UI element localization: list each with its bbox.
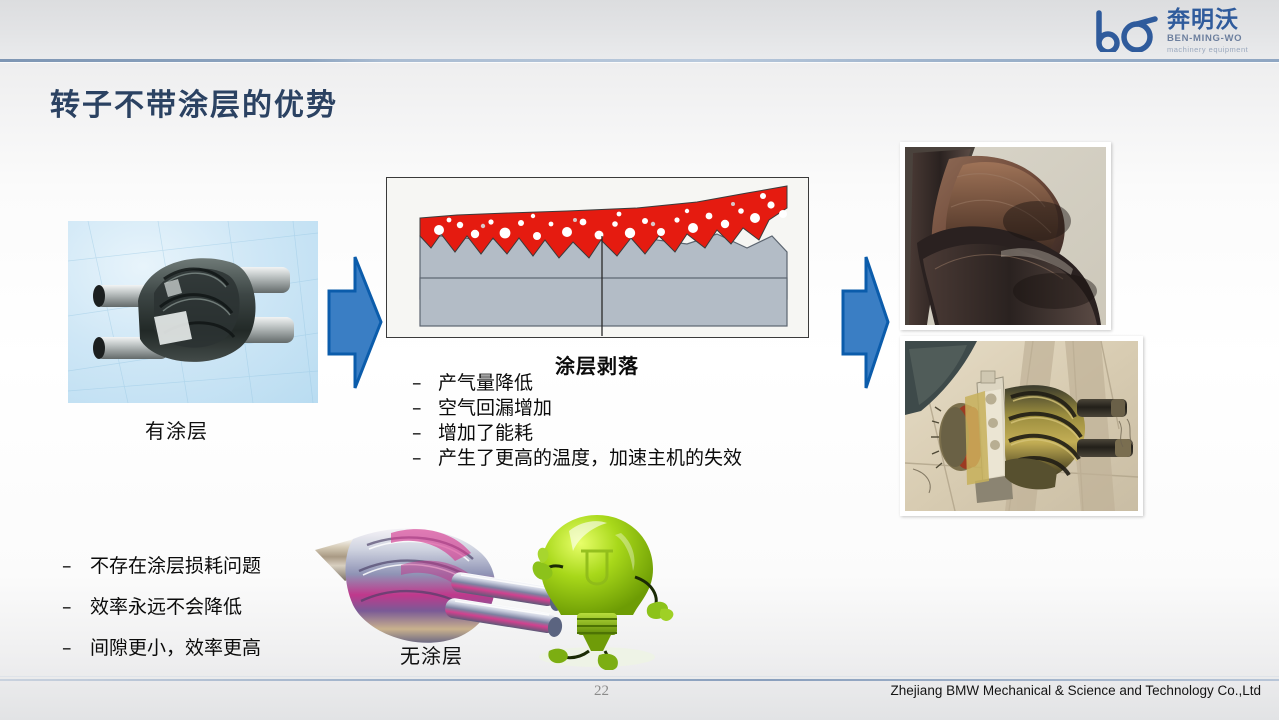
logo-name-en: BEN-MING-WO: [1167, 34, 1248, 44]
list-item: – 效率永远不会降低: [62, 587, 261, 628]
coated-rotor-photo: [68, 221, 318, 403]
logo-tagline: machinery equipment: [1167, 46, 1248, 54]
list-item-label: 产气量降低: [438, 371, 533, 396]
list-item: – 产气量降低: [412, 371, 742, 396]
header-band: [0, 0, 1279, 60]
list-item: – 产生了更高的温度，加速主机的失效: [412, 446, 742, 471]
page-number: 22: [594, 683, 609, 700]
flow-arrow-2-icon: [840, 255, 890, 390]
list-item-label: 增加了能耗: [438, 421, 533, 446]
rotor-assembly-image: [905, 341, 1138, 511]
list-item-label: 空气回漏增加: [438, 396, 552, 421]
uncoated-rotor-and-lightbulb-mascot: [305, 505, 675, 670]
list-item: – 不存在涂层损耗问题: [62, 546, 261, 587]
flow-arrow-1-icon: [325, 255, 383, 390]
worn-rotor-closeup-photo: [900, 142, 1111, 330]
bullet-marker: –: [62, 546, 90, 587]
rotor-helix-body: [138, 258, 256, 362]
damaged-rotor-assembly-photo: [900, 336, 1143, 516]
bulb-screw-base: [577, 613, 617, 651]
center-bullet-list: – 产气量降低 – 空气回漏增加 – 增加了能耗 – 产生了更高的温度，加速主机…: [412, 371, 742, 471]
lightbulb-mascot-icon: [533, 515, 674, 670]
logo-name-cn: 奔明沃: [1167, 9, 1248, 32]
photo-image-area: [905, 341, 1138, 511]
bottom-bullet-list: – 不存在涂层损耗问题 – 效率永远不会降低 – 间隙更小，效率更高: [62, 546, 261, 669]
header-divider-highlight: [0, 62, 1279, 63]
bullet-marker: –: [62, 628, 90, 669]
list-item: – 间隙更小，效率更高: [62, 628, 261, 669]
bo-monogram-icon: [1093, 10, 1161, 52]
page-title: 转子不带涂层的优势: [50, 80, 338, 124]
coating-delamination-diagram: [386, 177, 809, 338]
list-item-label: 效率永远不会降低: [90, 587, 242, 628]
company-logo: 奔明沃 BEN-MING-WO machinery equipment: [1093, 6, 1265, 56]
uncoated-rotor-illustration: [315, 529, 565, 643]
logo-text-block: 奔明沃 BEN-MING-WO machinery equipment: [1167, 9, 1248, 53]
slide-canvas: 奔明沃 BEN-MING-WO machinery equipment 转子不带…: [0, 0, 1279, 720]
bullet-marker: –: [62, 587, 90, 628]
footer-company-name: Zhejiang BMW Mechanical & Science and Te…: [891, 683, 1261, 698]
footer-divider-highlight: [0, 676, 1279, 677]
photo-image-area: [905, 147, 1106, 325]
bullet-marker: –: [412, 396, 438, 421]
list-item-label: 间隙更小，效率更高: [90, 628, 261, 669]
rotor-illustration: [68, 221, 318, 403]
list-item: – 增加了能耗: [412, 421, 742, 446]
list-item-label: 产生了更高的温度，加速主机的失效: [438, 446, 742, 471]
coating-cross-section-graphic: [387, 178, 808, 337]
footer-divider: [0, 679, 1279, 681]
coated-caption: 有涂层: [145, 415, 208, 444]
bullet-marker: –: [412, 421, 438, 446]
uncoated-caption: 无涂层: [400, 640, 463, 669]
bullet-marker: –: [412, 446, 438, 471]
bullet-marker: –: [412, 371, 438, 396]
list-item-label: 不存在涂层损耗问题: [90, 546, 261, 587]
worn-rotor-image: [905, 147, 1106, 325]
list-item: – 空气回漏增加: [412, 396, 742, 421]
